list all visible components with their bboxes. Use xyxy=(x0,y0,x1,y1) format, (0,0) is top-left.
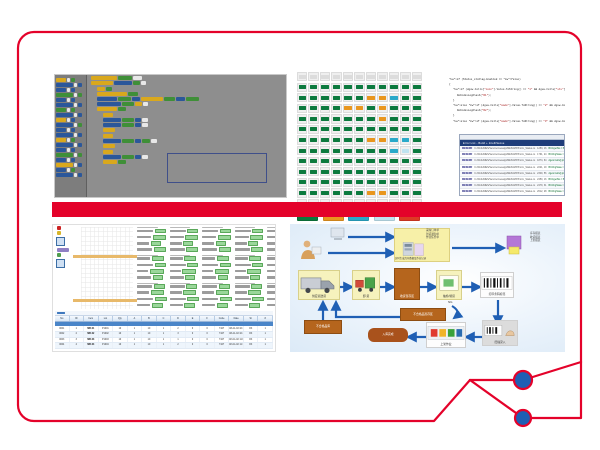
table-column-header[interactable]: C xyxy=(157,316,172,321)
status-cell[interactable] xyxy=(389,135,399,144)
table-column-header[interactable]: F xyxy=(200,316,215,321)
status-cell[interactable] xyxy=(331,93,341,102)
form-field[interactable] xyxy=(202,275,232,280)
block-row[interactable] xyxy=(97,92,286,96)
form-field[interactable] xyxy=(202,297,232,302)
status-cell[interactable] xyxy=(412,188,422,197)
table-cell[interactable]: MB-03 xyxy=(84,338,99,343)
table-cell[interactable]: 10 xyxy=(142,343,157,348)
form-column[interactable] xyxy=(235,227,265,309)
status-cell[interactable] xyxy=(377,114,387,123)
status-cell[interactable] xyxy=(343,157,353,166)
status-cell[interactable] xyxy=(343,93,353,102)
table-cell[interactable]: 1 xyxy=(70,326,85,331)
status-cell[interactable] xyxy=(366,83,376,92)
block-chip[interactable] xyxy=(122,102,134,106)
table-cell[interactable]: MB-04 xyxy=(84,343,99,348)
table-cell[interactable]: 1 xyxy=(157,343,172,348)
status-cell[interactable] xyxy=(343,83,353,92)
status-cell[interactable] xyxy=(308,125,318,134)
blocks-editor-panel[interactable] xyxy=(54,74,287,198)
status-cell[interactable] xyxy=(320,188,330,197)
flow-node-receiving-area[interactable]: 收货暂存区 xyxy=(394,268,420,300)
status-cell[interactable] xyxy=(377,178,387,187)
form-field[interactable] xyxy=(267,241,276,246)
status-cell[interactable] xyxy=(308,188,318,197)
form-columns[interactable] xyxy=(137,227,273,309)
block-chip[interactable] xyxy=(142,123,148,127)
table-cell[interactable]: 10 xyxy=(113,343,128,348)
table-cell[interactable]: 4 xyxy=(70,343,85,348)
table-cell[interactable]: 1 xyxy=(128,343,143,348)
table-cell[interactable]: 1 xyxy=(171,338,186,343)
status-cell[interactable] xyxy=(331,188,341,197)
table-cell[interactable]: OK xyxy=(244,326,259,331)
table-cell[interactable]: 2023-11-02 10:41 xyxy=(229,332,244,337)
table-cell[interactable]: 2023-11-02 11:02 xyxy=(229,338,244,343)
status-cell[interactable] xyxy=(366,93,376,102)
block-chip[interactable] xyxy=(164,97,175,101)
table-cell[interactable]: 2 xyxy=(70,332,85,337)
form-field[interactable] xyxy=(137,247,167,252)
form-field[interactable] xyxy=(235,297,265,302)
form-field[interactable] xyxy=(202,235,232,240)
status-cell[interactable] xyxy=(297,146,307,155)
status-cell[interactable] xyxy=(343,114,353,123)
table-cell[interactable]: MB-02 xyxy=(84,332,99,337)
block-chip[interactable] xyxy=(135,123,141,127)
status-cell[interactable] xyxy=(297,135,307,144)
status-cell[interactable] xyxy=(389,146,399,155)
form-field[interactable] xyxy=(267,229,276,234)
palette-block[interactable] xyxy=(56,143,85,147)
status-cell[interactable] xyxy=(308,72,318,81)
status-cell[interactable] xyxy=(354,135,364,144)
status-cell[interactable] xyxy=(331,125,341,134)
table-cell[interactable]: 0 xyxy=(186,326,201,331)
table-column-header[interactable]: St xyxy=(244,316,259,321)
block-chip[interactable] xyxy=(103,128,115,132)
status-cell[interactable] xyxy=(412,167,422,176)
table-cell[interactable]: OK xyxy=(244,332,259,337)
status-grid-panel[interactable] xyxy=(297,72,422,196)
flow-node-warehouse-staff[interactable] xyxy=(298,238,324,260)
block-chip[interactable] xyxy=(186,97,199,101)
status-cell[interactable] xyxy=(400,93,410,102)
status-cell[interactable] xyxy=(366,72,376,81)
palette-block[interactable] xyxy=(56,118,85,122)
status-cell[interactable] xyxy=(297,93,307,102)
status-cell[interactable] xyxy=(377,104,387,113)
palette-block[interactable] xyxy=(56,123,85,127)
form-field[interactable] xyxy=(267,284,276,289)
status-cell[interactable] xyxy=(320,72,330,81)
form-field[interactable] xyxy=(235,284,265,289)
status-cell[interactable] xyxy=(354,188,364,197)
status-cell[interactable] xyxy=(297,157,307,166)
status-cell[interactable] xyxy=(377,93,387,102)
status-cell[interactable] xyxy=(377,157,387,166)
status-cell[interactable] xyxy=(366,135,376,144)
status-grid[interactable] xyxy=(297,72,422,208)
form-field[interactable] xyxy=(137,284,167,289)
block-row[interactable] xyxy=(103,113,286,117)
toolbar-chip[interactable] xyxy=(57,312,65,314)
form-field[interactable] xyxy=(170,269,200,274)
table-cell[interactable]: OK xyxy=(244,343,259,348)
status-cell[interactable] xyxy=(412,125,422,134)
status-cell[interactable] xyxy=(412,104,422,113)
block-chip[interactable] xyxy=(122,123,134,127)
status-cell[interactable] xyxy=(320,157,330,166)
block-chip[interactable] xyxy=(118,160,126,164)
palette-block[interactable] xyxy=(56,98,85,102)
block-row[interactable] xyxy=(103,134,286,138)
flow-node-inspection[interactable]: 抽检/验货 xyxy=(436,270,462,300)
form-field[interactable] xyxy=(267,247,276,252)
table-column-header[interactable]: No xyxy=(55,316,70,321)
status-cell[interactable] xyxy=(354,114,364,123)
block-row[interactable] xyxy=(97,107,286,111)
code-source-area[interactable]: "kw">if (Status_stsFlag.Enabled == "kw">… xyxy=(437,74,565,136)
table-cell[interactable]: 10 xyxy=(113,326,128,331)
error-list-row[interactable]: MESERRC:/Work/MES/Service/mesapp/MES/APP… xyxy=(460,189,564,195)
status-cell[interactable] xyxy=(331,83,341,92)
status-cell[interactable] xyxy=(343,146,353,155)
palette-block[interactable] xyxy=(56,133,85,137)
status-cell[interactable] xyxy=(331,146,341,155)
status-cell[interactable] xyxy=(366,104,376,113)
form-field[interactable] xyxy=(170,247,200,252)
block-chip[interactable] xyxy=(103,144,115,148)
block-chip[interactable] xyxy=(103,150,113,154)
table-cell[interactable]: MB-01 xyxy=(84,326,99,331)
block-chip[interactable] xyxy=(133,76,142,80)
table-column-header[interactable]: B xyxy=(142,316,157,321)
block-chip[interactable] xyxy=(91,76,117,80)
form-field[interactable] xyxy=(202,263,232,268)
status-cell[interactable] xyxy=(366,188,376,197)
status-cell[interactable] xyxy=(400,104,410,113)
sheet-nav-column[interactable] xyxy=(53,225,79,309)
form-field[interactable] xyxy=(235,229,265,234)
code-line[interactable]: "kw">if (dgvw.Cells["conn"].Value.ToStri… xyxy=(445,87,563,92)
status-cell[interactable] xyxy=(320,146,330,155)
block-chip[interactable] xyxy=(114,81,132,85)
status-cell[interactable] xyxy=(412,114,422,123)
status-cell[interactable] xyxy=(389,83,399,92)
block-chip[interactable] xyxy=(103,118,121,122)
status-cell[interactable] xyxy=(308,135,318,144)
form-column[interactable] xyxy=(137,227,167,309)
form-field[interactable] xyxy=(235,241,265,246)
status-cell[interactable] xyxy=(354,93,364,102)
form-field[interactable] xyxy=(267,290,276,295)
block-chip[interactable] xyxy=(135,139,141,143)
table-cell[interactable]: 2023-11-02 10:30 xyxy=(229,326,244,331)
form-field[interactable] xyxy=(202,303,232,308)
block-chip[interactable] xyxy=(103,113,113,117)
table-cell[interactable]: 1 xyxy=(157,338,172,343)
block-chip[interactable] xyxy=(141,97,163,101)
block-row[interactable] xyxy=(103,118,286,122)
table-cell[interactable]: 0 xyxy=(200,343,215,348)
form-field[interactable] xyxy=(202,284,232,289)
block-group[interactable] xyxy=(103,113,286,132)
table-cell[interactable]: 10 xyxy=(113,332,128,337)
palette-block[interactable] xyxy=(56,108,85,112)
form-field[interactable] xyxy=(137,303,167,308)
block-chip[interactable] xyxy=(118,97,131,101)
block-chip[interactable] xyxy=(118,107,126,111)
status-cell[interactable] xyxy=(354,83,364,92)
status-cell[interactable] xyxy=(412,93,422,102)
table-column-header[interactable]: Code xyxy=(215,316,230,321)
table-cell[interactable]: 0004 xyxy=(55,343,70,348)
block-chip[interactable] xyxy=(106,87,112,91)
palette-block[interactable] xyxy=(56,158,85,162)
status-cell[interactable] xyxy=(389,157,399,166)
error-list-rows[interactable]: MESERRC:/Work/MES/Service/mesapp/MES/APP… xyxy=(460,146,564,196)
table-cell[interactable]: P1003 xyxy=(99,338,114,343)
status-cell[interactable] xyxy=(400,83,410,92)
status-cell[interactable] xyxy=(343,167,353,176)
table-cell[interactable]: OK xyxy=(244,338,259,343)
form-field[interactable] xyxy=(235,303,265,308)
status-cell[interactable] xyxy=(366,146,376,155)
form-field[interactable] xyxy=(235,275,265,280)
block-row[interactable] xyxy=(97,102,286,106)
table-cell[interactable]: 0 xyxy=(186,338,201,343)
flow-node-unload[interactable]: 卸 货 xyxy=(352,270,380,300)
status-cell[interactable] xyxy=(400,125,410,134)
table-cell[interactable]: 1 xyxy=(128,338,143,343)
palette-block[interactable] xyxy=(56,88,85,92)
status-cell[interactable] xyxy=(412,146,422,155)
block-group[interactable] xyxy=(97,87,286,111)
status-cell[interactable] xyxy=(377,135,387,144)
status-cell[interactable] xyxy=(297,178,307,187)
block-row[interactable] xyxy=(103,123,286,127)
form-field[interactable] xyxy=(267,256,276,261)
form-field[interactable] xyxy=(170,263,200,268)
block-chip[interactable] xyxy=(103,155,121,159)
table-column-header[interactable]: Lot xyxy=(99,316,114,321)
table-cell[interactable]: 0 xyxy=(200,332,215,337)
form-field[interactable] xyxy=(235,269,265,274)
status-cell[interactable] xyxy=(354,104,364,113)
table-cell[interactable]: 2 xyxy=(171,326,186,331)
block-chip[interactable] xyxy=(97,92,127,96)
status-cell[interactable] xyxy=(297,188,307,197)
status-cell[interactable] xyxy=(297,72,307,81)
status-cell[interactable] xyxy=(343,188,353,197)
table-cell[interactable]: P1001 xyxy=(99,326,114,331)
table-cell[interactable]: 2 xyxy=(171,343,186,348)
status-cell[interactable] xyxy=(297,114,307,123)
form-field[interactable] xyxy=(170,284,200,289)
block-row[interactable] xyxy=(103,144,286,148)
form-field[interactable] xyxy=(202,247,232,252)
status-cell[interactable] xyxy=(412,72,422,81)
form-field[interactable] xyxy=(137,275,167,280)
status-cell[interactable] xyxy=(308,157,318,166)
palette-block[interactable] xyxy=(56,113,85,117)
form-column[interactable] xyxy=(267,227,276,309)
table-cell[interactable]: P1002 xyxy=(99,332,114,337)
table-cell[interactable]: 1 xyxy=(258,343,273,348)
block-chip[interactable] xyxy=(97,102,121,106)
form-field[interactable] xyxy=(137,235,167,240)
flow-node-order-entry[interactable] xyxy=(328,226,350,242)
block-chip[interactable] xyxy=(103,160,117,164)
status-cell[interactable] xyxy=(331,135,341,144)
status-cell[interactable] xyxy=(343,104,353,113)
form-field[interactable] xyxy=(202,290,232,295)
form-field[interactable] xyxy=(137,297,167,302)
status-cell[interactable] xyxy=(297,104,307,113)
status-cell[interactable] xyxy=(377,188,387,197)
status-cell[interactable] xyxy=(389,178,399,187)
status-cell[interactable] xyxy=(308,167,318,176)
status-cell[interactable] xyxy=(389,72,399,81)
table-cell[interactable]: 1 xyxy=(157,326,172,331)
status-cell[interactable] xyxy=(343,125,353,134)
status-cell[interactable] xyxy=(320,167,330,176)
status-cell[interactable] xyxy=(354,178,364,187)
table-cell[interactable]: 0003 xyxy=(55,338,70,343)
block-row[interactable] xyxy=(97,97,286,101)
table-cell[interactable]: 0 xyxy=(186,332,201,337)
status-cell[interactable] xyxy=(412,157,422,166)
status-cell[interactable] xyxy=(400,114,410,123)
block-row[interactable] xyxy=(103,139,286,143)
status-cell[interactable] xyxy=(366,157,376,166)
status-cell[interactable] xyxy=(320,178,330,187)
table-cell[interactable]: P1004 xyxy=(99,343,114,348)
table-cell[interactable]: 7427 xyxy=(215,332,230,337)
block-chip[interactable] xyxy=(97,107,117,111)
status-cell[interactable] xyxy=(297,125,307,134)
status-cell[interactable] xyxy=(331,167,341,176)
block-chip[interactable] xyxy=(151,139,157,143)
table-cell[interactable]: 0002 xyxy=(55,332,70,337)
status-cell[interactable] xyxy=(331,114,341,123)
status-cell[interactable] xyxy=(389,125,399,134)
status-cell[interactable] xyxy=(400,146,410,155)
status-cell[interactable] xyxy=(308,146,318,155)
table-cell[interactable]: 0 xyxy=(186,343,201,348)
flow-node-report-out[interactable] xyxy=(504,232,526,258)
form-field[interactable] xyxy=(235,256,265,261)
status-cell[interactable] xyxy=(308,178,318,187)
form-field[interactable] xyxy=(137,256,167,261)
status-cell[interactable] xyxy=(366,125,376,134)
status-cell[interactable] xyxy=(354,72,364,81)
palette-block[interactable] xyxy=(56,173,85,177)
form-column[interactable] xyxy=(170,227,200,309)
flow-node-barcode-print[interactable]: 打印条码标签 xyxy=(480,272,514,298)
block-chip[interactable] xyxy=(142,139,150,143)
table-cell[interactable]: 7427 xyxy=(215,343,230,348)
status-cell[interactable] xyxy=(400,72,410,81)
form-field[interactable] xyxy=(202,229,232,234)
block-chip[interactable] xyxy=(143,102,148,106)
status-cell[interactable] xyxy=(377,146,387,155)
form-field[interactable] xyxy=(170,303,200,308)
status-cell[interactable] xyxy=(297,83,307,92)
status-cell[interactable] xyxy=(377,83,387,92)
palette-block[interactable] xyxy=(56,78,85,82)
block-chip[interactable] xyxy=(135,118,141,122)
block-row[interactable] xyxy=(97,87,286,91)
form-field[interactable] xyxy=(202,256,232,261)
block-chip[interactable] xyxy=(142,118,148,122)
code-editor-panel[interactable]: "kw">if (Status_stsFlag.Enabled == "kw">… xyxy=(437,72,565,196)
block-chip[interactable] xyxy=(128,92,138,96)
table-cell[interactable]: 0001 xyxy=(55,326,70,331)
palette-block[interactable] xyxy=(56,168,85,172)
table-column-header[interactable]: D xyxy=(171,316,186,321)
form-field[interactable] xyxy=(267,263,276,268)
status-cell[interactable] xyxy=(377,125,387,134)
status-cell[interactable] xyxy=(354,157,364,166)
form-field[interactable] xyxy=(267,297,276,302)
palette-block[interactable] xyxy=(56,138,85,142)
form-field[interactable] xyxy=(235,235,265,240)
status-cell[interactable] xyxy=(400,135,410,144)
status-cell[interactable] xyxy=(354,146,364,155)
blocks-palette[interactable] xyxy=(55,75,87,197)
table-cell[interactable]: 3 xyxy=(70,338,85,343)
table-cell[interactable]: 10 xyxy=(142,326,157,331)
status-cell[interactable] xyxy=(308,83,318,92)
flow-node-reject-store[interactable]: 不合格品库 xyxy=(304,320,342,334)
code-line[interactable]: "kw">else "kw">if (dgvw.Cells["mode"].Va… xyxy=(445,119,563,124)
form-field[interactable] xyxy=(267,303,276,308)
form-field[interactable] xyxy=(170,290,200,295)
block-chip[interactable] xyxy=(103,139,121,143)
block-chip[interactable] xyxy=(135,155,141,159)
status-cell[interactable] xyxy=(389,167,399,176)
table-cell[interactable]: 0 xyxy=(200,338,215,343)
error-list-panel[interactable]: Error List - Build + IntelliSense MESERR… xyxy=(459,134,565,196)
status-cell[interactable] xyxy=(377,167,387,176)
block-chip[interactable] xyxy=(103,134,113,138)
form-field[interactable] xyxy=(202,241,232,246)
block-row[interactable] xyxy=(91,81,286,85)
form-field[interactable] xyxy=(137,269,167,274)
table-cell[interactable]: 7427 xyxy=(215,326,230,331)
table-body[interactable]: 00011MB-01P100110110120074272023-11-02 1… xyxy=(55,326,273,349)
table-column-header[interactable]: E xyxy=(186,316,201,321)
flow-node-reject-area[interactable]: 不合格品暂存区 xyxy=(400,308,446,321)
palette-block[interactable] xyxy=(56,83,85,87)
palette-block[interactable] xyxy=(56,163,85,167)
table-cell[interactable]: 1 xyxy=(157,332,172,337)
block-chip[interactable] xyxy=(97,87,105,91)
form-column[interactable] xyxy=(202,227,232,309)
form-field[interactable] xyxy=(137,241,167,246)
status-cell[interactable] xyxy=(412,178,422,187)
block-row[interactable] xyxy=(103,128,286,132)
status-cell[interactable] xyxy=(400,178,410,187)
palette-block[interactable] xyxy=(56,93,85,97)
status-cell[interactable] xyxy=(331,157,341,166)
status-cell[interactable] xyxy=(354,125,364,134)
block-chip[interactable] xyxy=(133,81,140,85)
nav-box-1[interactable] xyxy=(56,237,65,246)
